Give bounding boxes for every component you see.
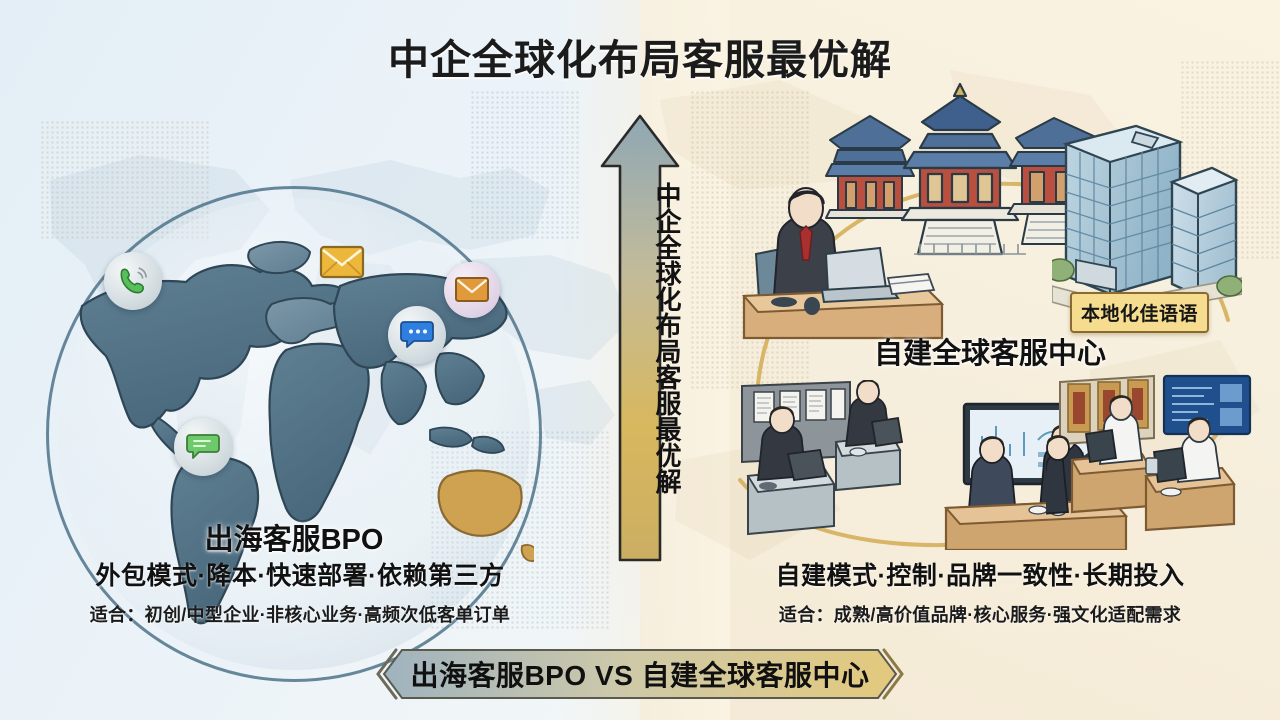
right-subline: 适合：成熟/高价值品牌·核心服务·强文化适配需求: [720, 601, 1240, 627]
right-copy-block: 自建模式·控制·品牌一致性·长期投入 适合：成熟/高价值品牌·核心服务·强文化适…: [720, 556, 1240, 627]
left-headline: 外包模式·降本·快速部署·依赖第三方: [40, 556, 560, 592]
envelope-icon: [318, 242, 366, 282]
phone-pin[interactable]: [104, 252, 162, 310]
chat-bubble-icon: [399, 319, 435, 351]
arrow-vertical-label: 中企全球化布局客服最优解: [598, 182, 682, 494]
office-towers-scene: [1052, 118, 1242, 318]
left-subline: 适合：初创/中型企业·非核心业务·高频次低客单订单: [40, 601, 560, 627]
localization-badge: 本地化佳语语: [1070, 292, 1209, 333]
mail-asia-pin[interactable]: [444, 262, 500, 318]
right-headline: 自建模式·控制·品牌一致性·长期投入: [720, 556, 1240, 592]
chat-south-america-pin[interactable]: [174, 418, 232, 476]
left-copy-block: 外包模式·降本·快速部署·依赖第三方 适合：初创/中型企业·非核心业务·高频次低…: [40, 556, 560, 627]
support-team-scene: [1046, 372, 1256, 532]
chat-bubble-icon: [185, 431, 221, 463]
phone-icon: [116, 264, 150, 298]
mail-europe-pin[interactable]: [318, 242, 366, 282]
globe-label: 出海客服BPO: [46, 516, 542, 558]
infographic-stage: 中企全球化布局客服最优解: [0, 0, 1280, 720]
bottom-banner-text: 出海客服BPO VS 自建全球客服中心: [372, 646, 908, 702]
page-title: 中企全球化布局客服最优解: [0, 26, 1280, 86]
chat-asia-pin[interactable]: [388, 306, 446, 364]
envelope-icon: [454, 276, 490, 304]
right-section-label: 自建全球客服中心: [780, 330, 1200, 372]
